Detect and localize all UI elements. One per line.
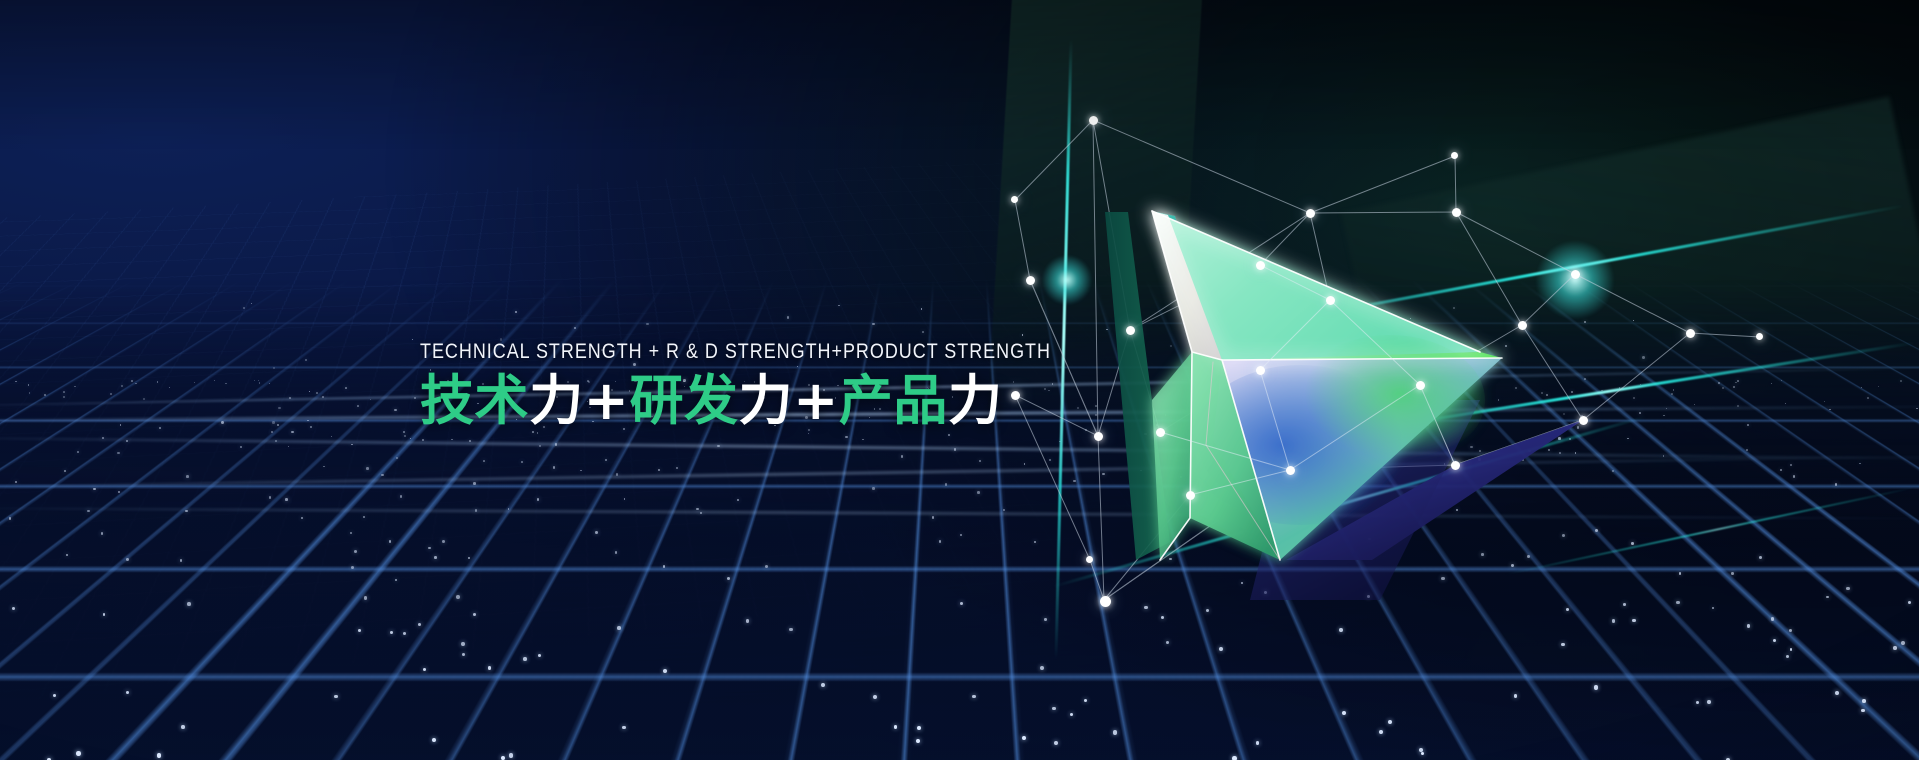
beam-glow-point xyxy=(1290,418,1380,508)
hero-banner: TECHNICAL STRENGTH + R & D STRENGTH+PROD… xyxy=(0,0,1919,760)
eyebrow-text: TECHNICAL STRENGTH + R & D STRENGTH+PROD… xyxy=(420,340,967,364)
page-title: 技术力+研发力+产品力 xyxy=(420,372,1060,429)
headline-part-power-2: 力 xyxy=(739,369,794,432)
headline-part-power-3: 力 xyxy=(948,369,1003,432)
headline-part-product: 产品 xyxy=(839,369,948,432)
headline-part-power-1: 力 xyxy=(529,369,584,432)
headline-plus-1: + xyxy=(584,369,630,432)
headline-part-rd: 研发 xyxy=(629,369,738,432)
headline-plus-2: + xyxy=(793,369,839,432)
headline-block: TECHNICAL STRENGTH + R & D STRENGTH+PROD… xyxy=(420,340,1060,429)
beam-glow-point xyxy=(1520,225,1630,335)
headline-part-technical: 技术 xyxy=(420,369,529,432)
beam-glow-point xyxy=(1032,245,1102,315)
